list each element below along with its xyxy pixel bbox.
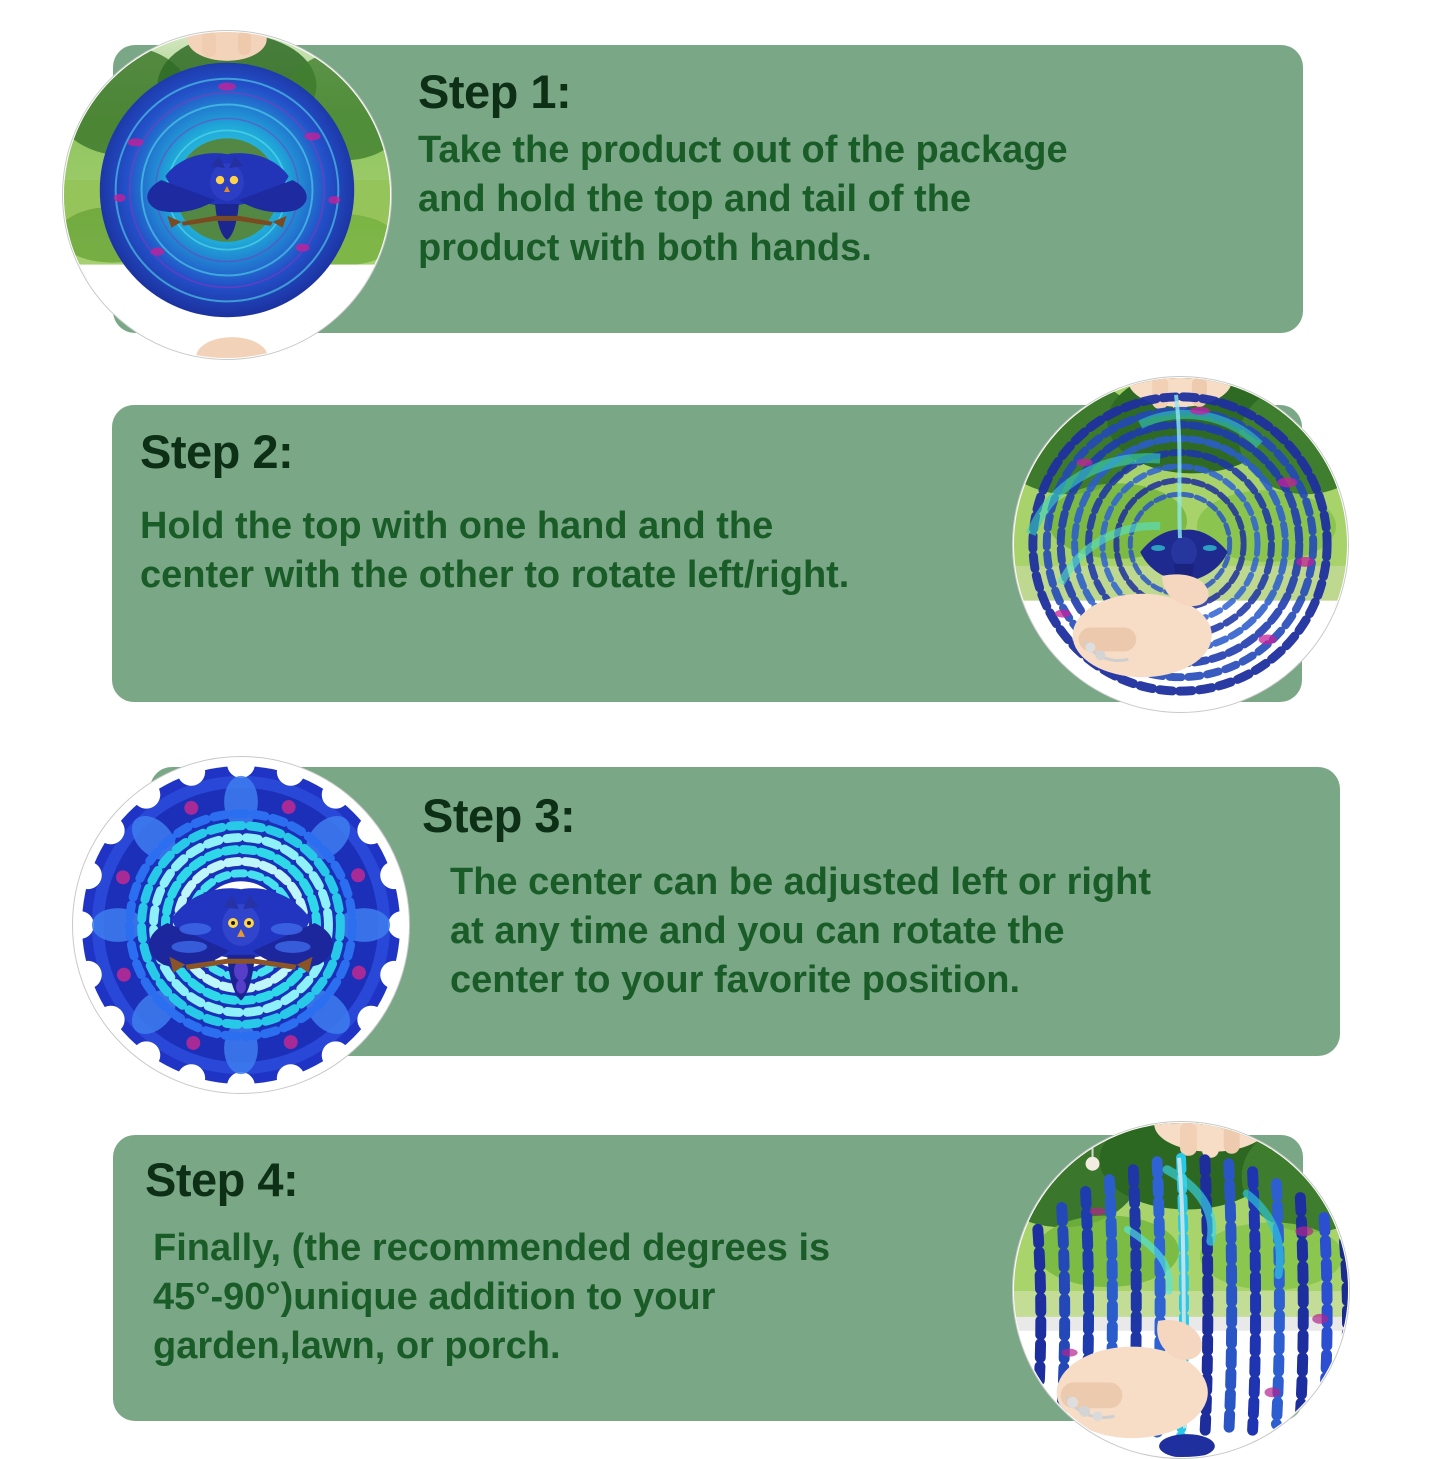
step-3-text-block: Step 3: The center can be adjusted left … <box>422 791 1322 1004</box>
step-3-photo-spinner-product <box>72 756 410 1094</box>
owl-spinner-photo-2-graphic <box>1013 377 1348 712</box>
step-1-body: Take the product out of the package and … <box>418 126 1303 272</box>
step-2-photo-rotating-spinner <box>1012 376 1349 713</box>
step-2-text-block: Step 2: Hold the top with one hand and t… <box>140 427 1080 600</box>
step-1-title: Step 1: <box>418 67 1303 116</box>
step-4-photo-spinner-outdoors <box>1012 1121 1350 1459</box>
step-3-body: The center can be adjusted left or right… <box>422 858 1322 1004</box>
step-2-body: Hold the top with one hand and the cente… <box>140 502 1080 599</box>
owl-spinner-photo-4-graphic <box>1013 1122 1349 1458</box>
step-1-photo-owl-spinner-in-hands <box>62 30 392 360</box>
owl-spinner-photo-3-graphic <box>73 757 409 1093</box>
step-4-body: Finally, (the recommended degrees is 45°… <box>145 1224 1075 1370</box>
instruction-sheet: Step 1: Take the product out of the pack… <box>0 0 1445 1445</box>
step-4-title: Step 4: <box>145 1155 1075 1204</box>
owl-spinner-photo-1-graphic <box>63 31 391 359</box>
step-3-title: Step 3: <box>422 791 1322 840</box>
step-4-text-block: Step 4: Finally, (the recommended degree… <box>145 1155 1075 1370</box>
step-1-text-block: Step 1: Take the product out of the pack… <box>418 67 1303 272</box>
step-2-title: Step 2: <box>140 427 1080 476</box>
